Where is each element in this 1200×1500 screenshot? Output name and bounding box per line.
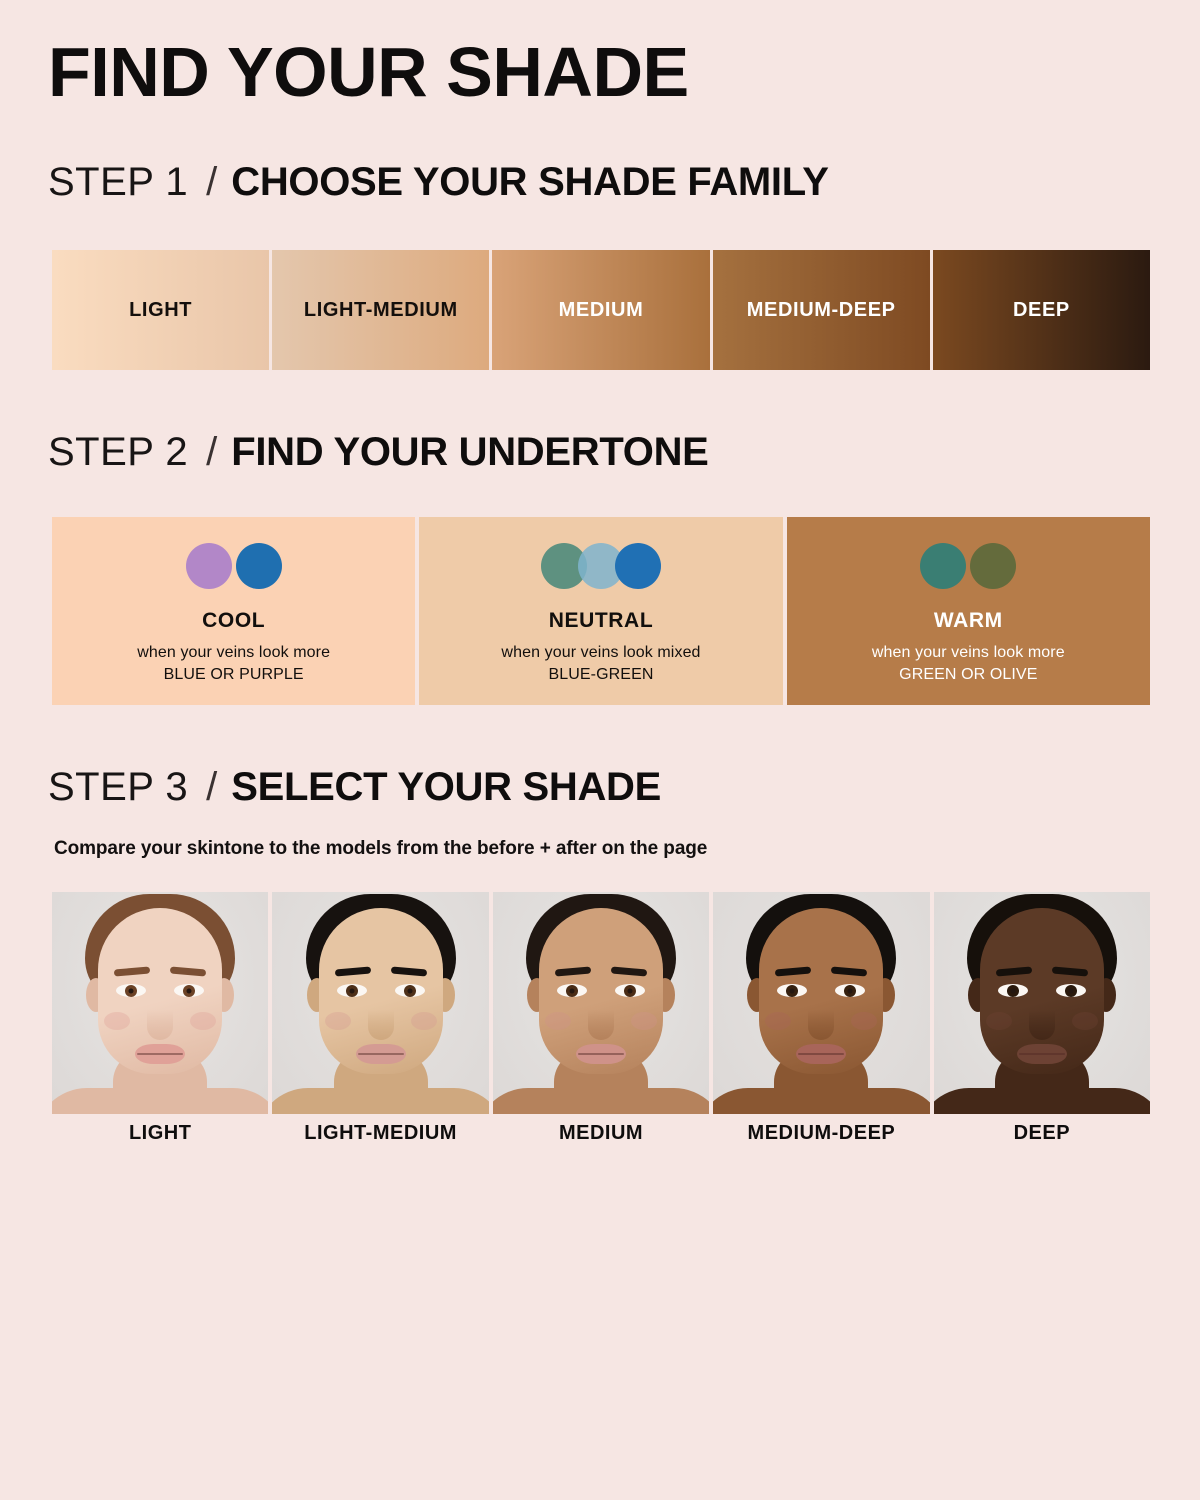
model-photo-light[interactable] xyxy=(52,892,268,1114)
model-pupil xyxy=(790,988,795,993)
model-cheek-left xyxy=(325,1012,351,1030)
model-eye-left xyxy=(998,984,1028,997)
undertone-description-line-2: BLUE OR PURPLE xyxy=(164,664,304,686)
model-cheek-left xyxy=(986,1012,1012,1030)
vein-color-dot-purple xyxy=(186,543,232,589)
find-your-shade-page: FIND YOUR SHADE STEP 1 / CHOOSE YOUR SHA… xyxy=(0,0,1200,1500)
model-photos-row xyxy=(52,892,1150,1114)
model-pupil xyxy=(1010,988,1015,993)
model-nose xyxy=(1029,1010,1055,1040)
step-1-separator: / xyxy=(206,160,217,204)
model-eye-right xyxy=(1056,984,1086,997)
model-label-deep: DEEP xyxy=(934,1122,1150,1145)
model-eye-left xyxy=(337,984,367,997)
vein-color-dot-blue xyxy=(615,543,661,589)
shade-swatch-light[interactable]: LIGHT xyxy=(52,250,269,370)
model-iris xyxy=(1065,985,1077,997)
model-eye-right xyxy=(174,984,204,997)
step-3-separator: / xyxy=(206,765,217,809)
model-nose xyxy=(808,1010,834,1040)
model-face-illustration xyxy=(52,892,268,1114)
model-pupil xyxy=(349,988,354,993)
shade-swatch-label: DEEP xyxy=(1013,299,1070,322)
model-eye-right xyxy=(395,984,425,997)
page-title: FIND YOUR SHADE xyxy=(48,36,689,108)
shade-swatch-deep[interactable]: DEEP xyxy=(933,250,1150,370)
shade-swatch-label: MEDIUM-DEEP xyxy=(747,299,896,322)
model-pupil xyxy=(570,988,575,993)
model-iris xyxy=(566,985,578,997)
undertone-name: WARM xyxy=(934,609,1003,633)
shade-family-bar: LIGHT LIGHT-MEDIUM MEDIUM MEDIUM-DEEP DE… xyxy=(52,250,1150,370)
undertone-dots-warm xyxy=(920,543,1016,589)
undertone-name: COOL xyxy=(202,609,265,633)
model-iris xyxy=(1007,985,1019,997)
step-3-header: STEP 3 / SELECT YOUR SHADE xyxy=(48,765,661,809)
undertone-name: NEUTRAL xyxy=(549,609,654,633)
step-2-number: STEP 2 xyxy=(48,430,188,474)
model-nose xyxy=(147,1010,173,1040)
shade-swatch-medium-deep[interactable]: MEDIUM-DEEP xyxy=(713,250,930,370)
model-nose xyxy=(368,1010,394,1040)
model-pupil xyxy=(628,988,633,993)
model-iris xyxy=(183,985,195,997)
undertone-row: COOL when your veins look more BLUE OR P… xyxy=(52,517,1150,705)
model-pupil xyxy=(848,988,853,993)
model-iris xyxy=(346,985,358,997)
model-eye-left xyxy=(116,984,146,997)
model-photo-medium[interactable] xyxy=(493,892,709,1114)
undertone-card-warm[interactable]: WARM when your veins look more GREEN OR … xyxy=(787,517,1150,705)
step-3-number: STEP 3 xyxy=(48,765,188,809)
model-pupil xyxy=(1068,988,1073,993)
model-pupil xyxy=(129,988,134,993)
shade-swatch-medium[interactable]: MEDIUM xyxy=(492,250,709,370)
undertone-dots-neutral xyxy=(541,543,661,589)
model-nose xyxy=(588,1010,614,1040)
model-cheek-left xyxy=(545,1012,571,1030)
model-cheek-right xyxy=(631,1012,657,1030)
shade-swatch-label: LIGHT-MEDIUM xyxy=(304,299,458,322)
step-3-title: SELECT YOUR SHADE xyxy=(231,765,661,809)
model-face-illustration xyxy=(713,892,929,1114)
model-face-illustration xyxy=(934,892,1150,1114)
model-pupil xyxy=(407,988,412,993)
vein-color-dot-olive xyxy=(970,543,1016,589)
undertone-description-line-1: when your veins look mixed xyxy=(501,642,700,664)
step-2-title: FIND YOUR UNDERTONE xyxy=(231,430,708,474)
model-labels-row: LIGHT LIGHT-MEDIUM MEDIUM MEDIUM-DEEP DE… xyxy=(52,1122,1150,1145)
model-face-illustration xyxy=(272,892,488,1114)
shade-swatch-light-medium[interactable]: LIGHT-MEDIUM xyxy=(272,250,489,370)
model-lip-line xyxy=(578,1053,624,1055)
model-lip-line xyxy=(798,1053,844,1055)
step-1-header: STEP 1 / CHOOSE YOUR SHADE FAMILY xyxy=(48,160,829,204)
model-photo-medium-deep[interactable] xyxy=(713,892,929,1114)
model-iris xyxy=(404,985,416,997)
model-label-light: LIGHT xyxy=(52,1122,268,1145)
step-1-number: STEP 1 xyxy=(48,160,188,204)
step-2-header: STEP 2 / FIND YOUR UNDERTONE xyxy=(48,430,709,474)
model-cheek-right xyxy=(1072,1012,1098,1030)
model-eye-left xyxy=(557,984,587,997)
step-1-title: CHOOSE YOUR SHADE FAMILY xyxy=(231,160,828,204)
model-label-medium: MEDIUM xyxy=(493,1122,709,1145)
step-2-separator: / xyxy=(206,430,217,474)
model-pupil xyxy=(187,988,192,993)
model-photo-deep[interactable] xyxy=(934,892,1150,1114)
select-shade-subtitle: Compare your skintone to the models from… xyxy=(54,838,707,860)
undertone-description-line-1: when your veins look more xyxy=(137,642,330,664)
shade-swatch-label: LIGHT xyxy=(129,299,192,322)
model-photo-light-medium[interactable] xyxy=(272,892,488,1114)
undertone-card-neutral[interactable]: NEUTRAL when your veins look mixed BLUE-… xyxy=(419,517,782,705)
model-label-light-medium: LIGHT-MEDIUM xyxy=(272,1122,488,1145)
undertone-card-cool[interactable]: COOL when your veins look more BLUE OR P… xyxy=(52,517,415,705)
model-lip-line xyxy=(137,1053,183,1055)
model-label-medium-deep: MEDIUM-DEEP xyxy=(713,1122,929,1145)
undertone-description-line-2: BLUE-GREEN xyxy=(548,664,653,686)
undertone-description-line-2: GREEN OR OLIVE xyxy=(899,664,1037,686)
model-lip-line xyxy=(358,1053,404,1055)
vein-color-dot-teal xyxy=(920,543,966,589)
model-lip-line xyxy=(1019,1053,1065,1055)
shade-swatch-label: MEDIUM xyxy=(559,299,644,322)
undertone-description-line-1: when your veins look more xyxy=(872,642,1065,664)
undertone-dots-cool xyxy=(186,543,282,589)
model-iris xyxy=(844,985,856,997)
model-iris xyxy=(786,985,798,997)
model-cheek-right xyxy=(411,1012,437,1030)
vein-color-dot-blue xyxy=(236,543,282,589)
model-eye-right xyxy=(615,984,645,997)
model-face-illustration xyxy=(493,892,709,1114)
model-iris xyxy=(624,985,636,997)
model-iris xyxy=(125,985,137,997)
